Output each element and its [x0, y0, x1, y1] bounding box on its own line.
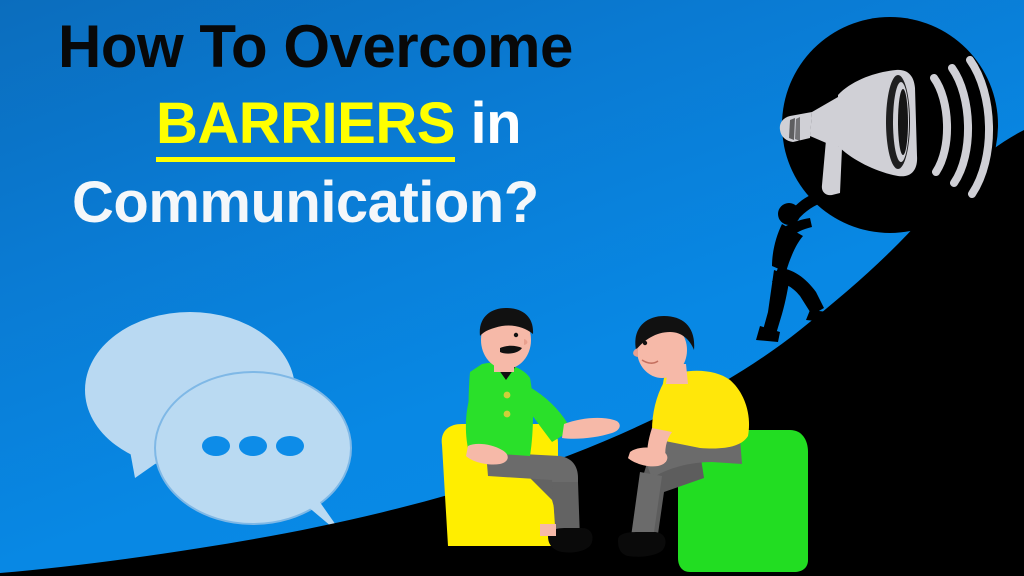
left-person-group: [442, 308, 620, 553]
right-person-eye: [643, 341, 647, 345]
title-block: How To Overcome BARRIERS in Communicatio…: [52, 18, 692, 231]
title-line-2-rest: in: [455, 91, 521, 156]
thumbnail-canvas: How To Overcome BARRIERS in Communicatio…: [0, 0, 1024, 576]
title-keyword-barriers: BARRIERS: [156, 91, 455, 162]
left-person-ankle: [540, 524, 556, 536]
shirt-button: [504, 411, 511, 418]
left-person-eye: [514, 333, 518, 337]
title-line-3: Communication?: [52, 175, 692, 231]
right-person-group: [618, 316, 808, 572]
right-person-shoe: [618, 532, 666, 557]
left-person-hand: [562, 418, 620, 439]
title-line-2: BARRIERS in: [52, 96, 692, 152]
title-line-1: How To Overcome: [52, 18, 692, 76]
right-person-nose: [633, 348, 638, 357]
shirt-button: [504, 392, 511, 399]
